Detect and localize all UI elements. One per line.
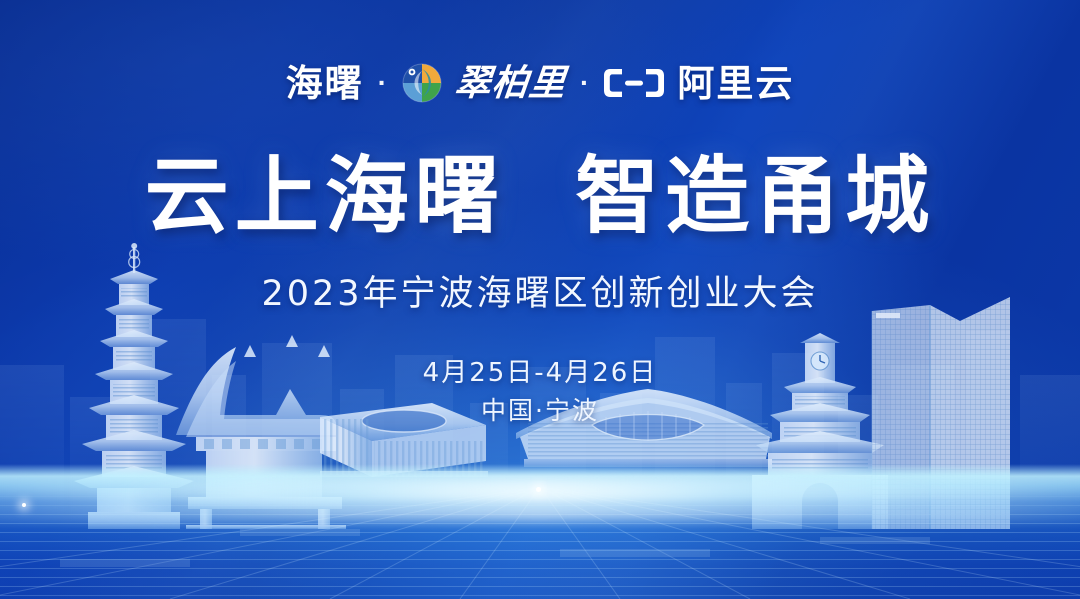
horizon-glow xyxy=(130,473,951,513)
ground-perspective-grid xyxy=(0,487,1080,599)
conference-poster: 海曙 · 翠柏里 · 阿里云 云 xyxy=(0,0,1080,599)
glowing-ground-plane xyxy=(0,464,1080,599)
ground-ray-lines xyxy=(0,487,1080,599)
light-streak-lower xyxy=(0,503,1080,521)
logo-separator-2: · xyxy=(578,69,591,97)
light-flare-center xyxy=(536,487,541,492)
sponsor-logo-row: 海曙 · 翠柏里 · 阿里云 xyxy=(0,52,1080,114)
page-title: 云上海曙 智造甬城 xyxy=(0,152,1080,241)
event-date: 4月25日-4月26日 xyxy=(0,352,1080,389)
brand-aliyun-label: 阿里云 xyxy=(677,65,794,102)
cuibaili-circle-logo xyxy=(401,59,443,107)
brand-haishu-label: 海曙 xyxy=(286,65,364,102)
event-subtitle: 2023年宁波海曙区创新创业大会 xyxy=(0,273,1080,315)
alibaba-cloud-logo xyxy=(603,66,665,100)
logo-separator-1: · xyxy=(376,69,389,97)
brand-cuibaili-label: 翠柏里 xyxy=(453,65,568,101)
event-location: 中国·宁波 xyxy=(0,391,1080,427)
light-streak-upper xyxy=(0,477,1080,503)
light-flare-left xyxy=(22,503,26,507)
